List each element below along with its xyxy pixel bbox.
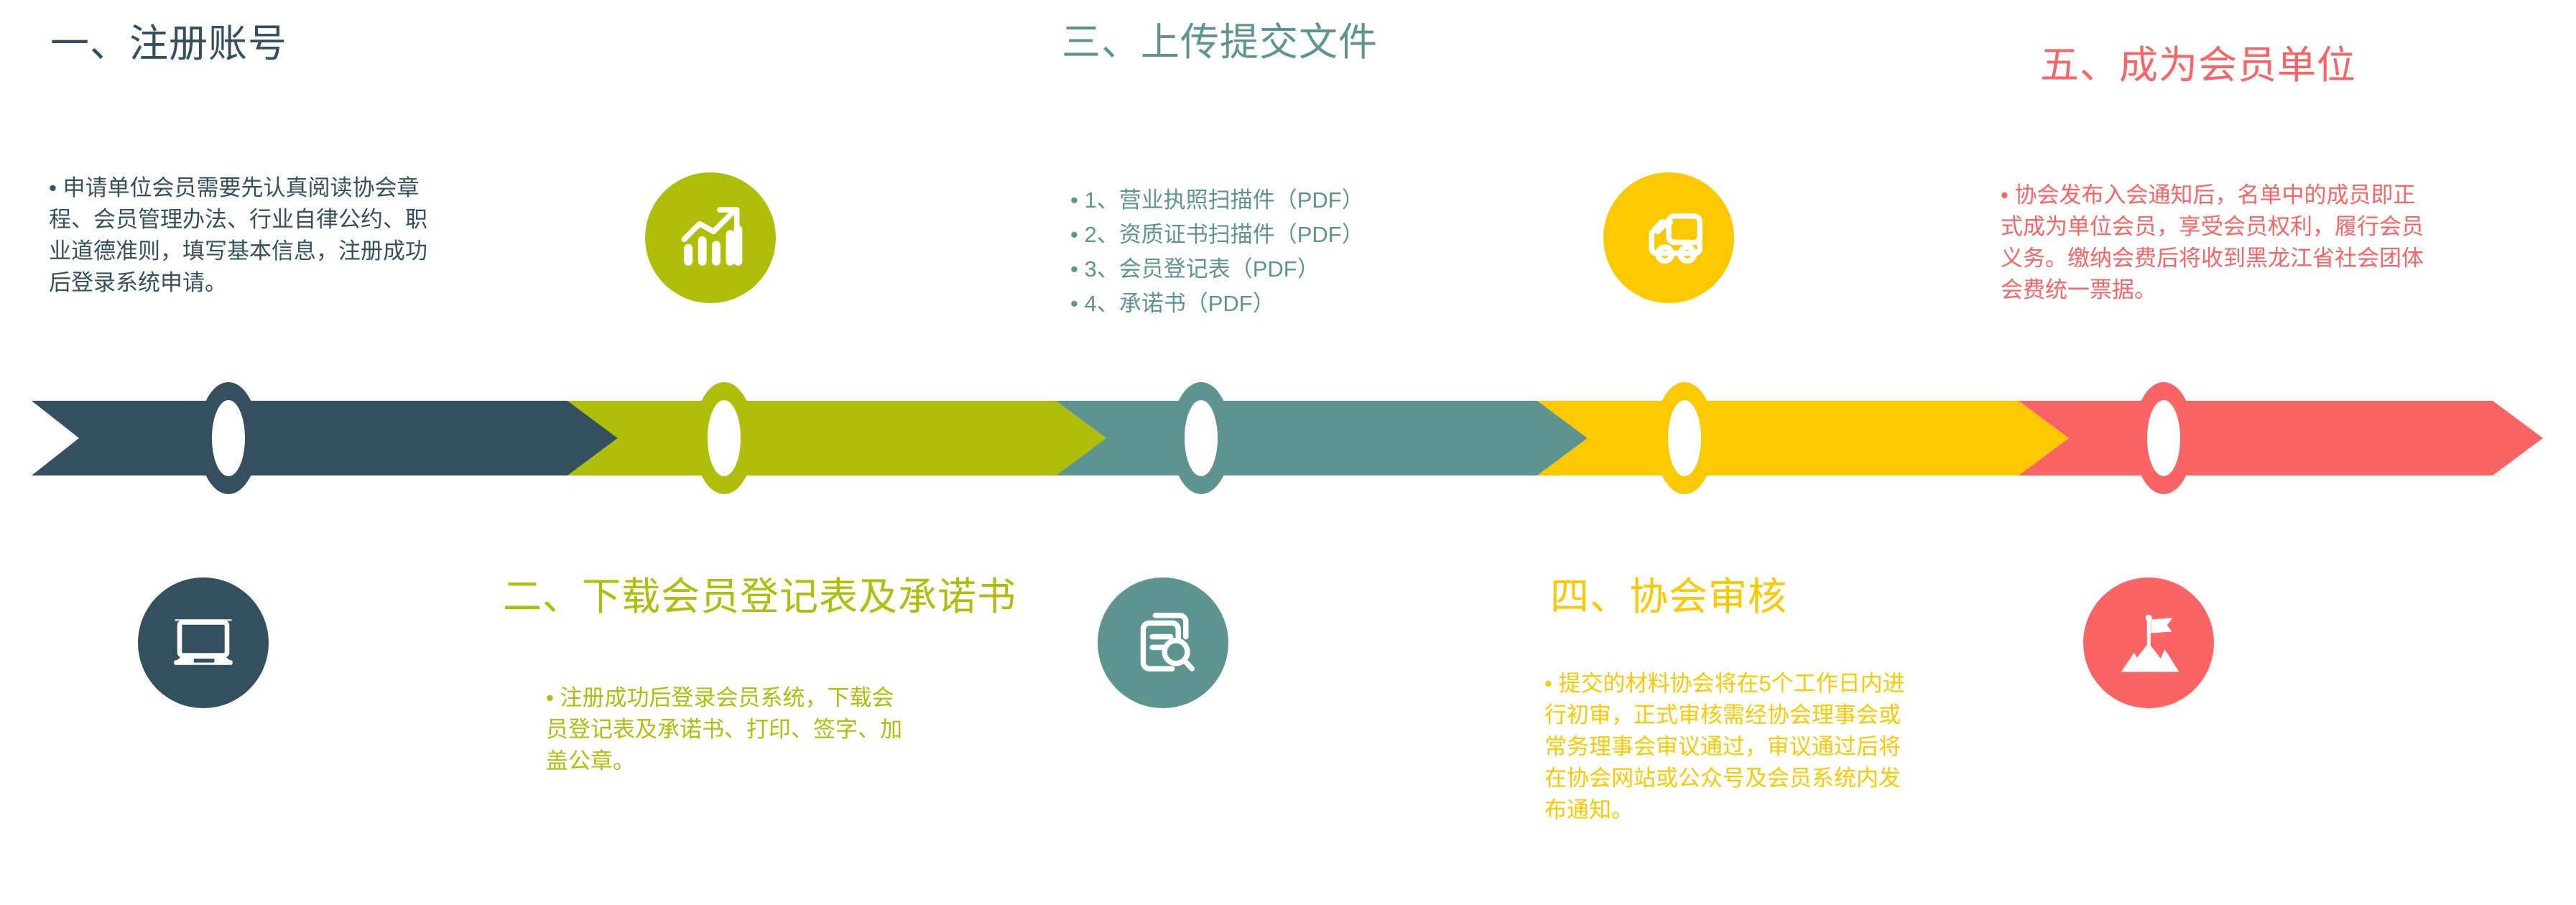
timeline-marker-4	[1654, 382, 1715, 494]
timeline-segment-5	[2019, 401, 2543, 475]
document-search-icon-circle	[1098, 577, 1228, 708]
step-1-body-line: • 申请单位会员需要先认真阅读协会章	[49, 172, 427, 204]
step-1-heading: 一、注册账号	[50, 22, 287, 66]
step-3-heading: 三、上传提交文件	[1062, 20, 1378, 65]
delivery-truck-icon-circle	[1603, 172, 1734, 303]
list-item: • 4、承诺书（PDF）	[1070, 287, 1364, 321]
step-4-body-line: 布通知。	[1544, 794, 1905, 826]
step-1-body-line: 业道德准则，填写基本信息，注册成功	[49, 236, 427, 267]
growth-chart-icon	[672, 199, 749, 277]
step-2-body: • 注册成功后登录会员系统，下载会 员登记表及承诺书、打印、签字、加 盖公章。	[546, 682, 902, 777]
list-item: • 1、营业执照扫描件（PDF）	[1070, 183, 1364, 218]
timeline-marker-3	[1171, 382, 1231, 494]
list-item: • 3、会员登记表（PDF）	[1070, 252, 1364, 287]
step-1-body: • 申请单位会员需要先认真阅读协会章 程、会员管理办法、行业自律公约、职 业道德…	[49, 172, 427, 299]
step-5-body-line: 式成为单位会员，享受会员权利，履行会员	[2001, 211, 2424, 243]
step-5-heading: 五、成为会员单位	[2040, 43, 2356, 88]
step-2-body-line: 盖公章。	[546, 746, 902, 777]
timeline-marker-2	[694, 382, 754, 494]
timeline-segment-2	[567, 401, 1106, 475]
delivery-truck-icon	[1630, 199, 1708, 277]
step-4-body-line: 常务理事会审议通过，审议通过后将	[1544, 731, 1905, 763]
laptop-icon-circle	[138, 577, 269, 708]
timeline-segment-1	[32, 401, 618, 475]
step-5-body-line: 会费统一票据。	[2001, 274, 2424, 306]
timeline-segment-3	[1056, 401, 1588, 475]
process-timeline	[0, 373, 2576, 503]
step-4-heading: 四、协会审核	[1550, 575, 1787, 619]
flag-mountain-icon	[2108, 603, 2189, 683]
step-5-body-line: 义务。缴纳会费后将收到黑龙江省社会团体	[2001, 243, 2424, 274]
laptop-icon	[164, 603, 243, 682]
infographic-canvas: 一、注册账号 • 申请单位会员需要先认真阅读协会章 程、会员管理办法、行业自律公…	[0, 0, 2576, 905]
growth-chart-icon-circle	[645, 172, 776, 303]
step-5-body-line: • 协会发布入会通知后，名单中的成员即正	[2001, 180, 2424, 211]
step-2-heading: 二、下载会员登记表及承诺书	[503, 575, 1016, 619]
list-item: • 2、资质证书扫描件（PDF）	[1070, 218, 1364, 252]
step-1-body-line: 后登录系统申请。	[49, 267, 427, 299]
step-3-file-list: • 1、营业执照扫描件（PDF） • 2、资质证书扫描件（PDF） • 3、会员…	[1070, 183, 1364, 321]
document-search-icon	[1125, 605, 1201, 681]
timeline-marker-5	[2133, 382, 2194, 494]
timeline-segment-4	[1537, 401, 2069, 475]
flag-mountain-icon-circle	[2083, 577, 2214, 708]
step-5-body: • 协会发布入会通知后，名单中的成员即正 式成为单位会员，享受会员权利，履行会员…	[2001, 180, 2424, 306]
step-4-body: • 提交的材料协会将在5个工作日内进 行初审，正式审核需经协会理事会或 常务理事…	[1544, 668, 1905, 826]
step-4-body-line: 行初审，正式审核需经协会理事会或	[1544, 700, 1905, 731]
step-2-body-line: • 注册成功后登录会员系统，下载会	[546, 682, 902, 714]
timeline-marker-1	[198, 382, 259, 494]
step-4-body-line: • 提交的材料协会将在5个工作日内进	[1544, 668, 1905, 700]
step-4-body-line: 在协会网站或公众号及会员系统内发	[1544, 763, 1905, 794]
step-1-body-line: 程、会员管理办法、行业自律公约、职	[49, 204, 427, 236]
step-2-body-line: 员登记表及承诺书、打印、签字、加	[546, 714, 902, 746]
